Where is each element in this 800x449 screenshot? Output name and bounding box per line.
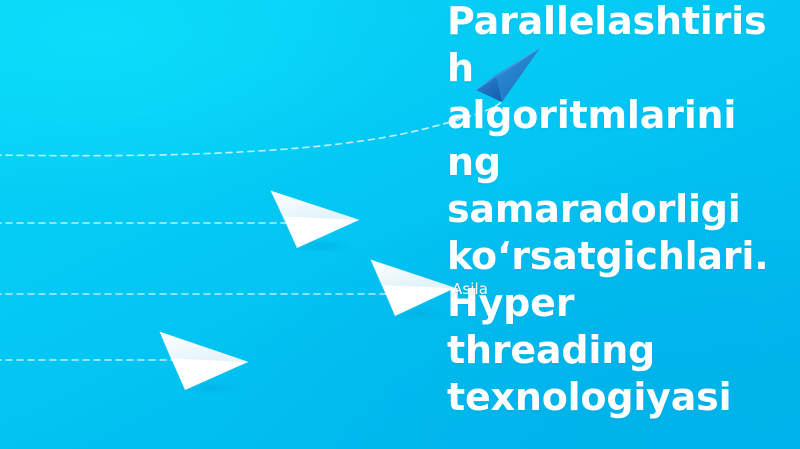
title-line-1: Parallelashtiris — [447, 0, 799, 45]
paper-plane-icon — [155, 328, 255, 394]
trail-curved-top-line — [0, 97, 502, 156]
title-line-4: ng — [447, 139, 799, 186]
title-line-3: algoritmlarini — [447, 92, 799, 139]
title-line-2: h — [447, 45, 799, 92]
paper-plane-icon — [265, 188, 365, 252]
author-label: Asila — [452, 282, 488, 297]
title-line-6: koʻrsatgichlari. — [447, 233, 799, 280]
title-line-5: samaradorligi — [447, 186, 799, 233]
title-line-8: threading — [447, 327, 799, 374]
paper-plane-second — [265, 188, 365, 252]
title-line-9: texnologiyasi — [447, 374, 799, 421]
slide-title: Parallelashtiris h algoritmlarini ng sam… — [447, 0, 799, 421]
paper-plane-fourth — [155, 328, 255, 394]
title-line-7: Hyper — [447, 280, 799, 327]
presentation-slide: Parallelashtiris h algoritmlarini ng sam… — [0, 0, 800, 449]
